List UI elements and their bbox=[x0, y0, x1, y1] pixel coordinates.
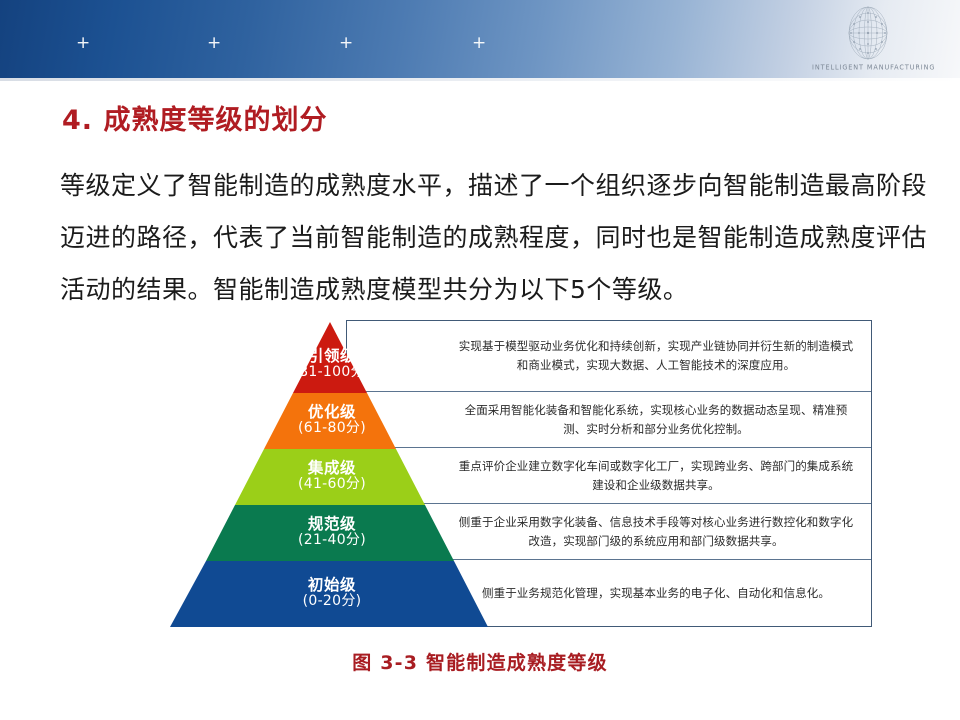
header-banner: + + + + bbox=[0, 0, 960, 78]
description-text: 侧重于企业采用数字化装备、信息技术手段等对核心业务进行数控化和数字化改造，实现部… bbox=[456, 513, 856, 551]
logo-caption: INTELLIGENT MANUFACTURING bbox=[812, 62, 924, 71]
description-text: 全面采用智能化装备和智能化系统，实现核心业务的数据动态呈现、精准预测、实时分析和… bbox=[456, 401, 856, 439]
pyramid-slice-shape bbox=[170, 561, 494, 627]
plus-decoration-icon: + bbox=[76, 35, 90, 52]
pyramid-level-4: 优化级 (61-80分) bbox=[170, 393, 494, 449]
sphere-mesh-icon bbox=[840, 4, 896, 62]
pyramid-level-2: 规范级 (21-40分) bbox=[170, 505, 494, 561]
page-title: 4. 成熟度等级的划分 bbox=[62, 98, 327, 137]
pyramid-level-5: 引领级 (81-100分) bbox=[170, 322, 494, 393]
body-paragraph: 等级定义了智能制造的成熟度水平，描述了一个组织逐步向智能制造最高阶段迈进的路径，… bbox=[60, 160, 940, 316]
description-text: 侧重于业务规范化管理，实现基本业务的电子化、自动化和信息化。 bbox=[456, 584, 856, 603]
header-underline bbox=[0, 78, 960, 81]
plus-decoration-icon: + bbox=[472, 35, 486, 52]
pyramid-slice-shape bbox=[170, 505, 494, 561]
description-text: 实现基于模型驱动业务优化和持续创新，实现产业链协同并衍生新的制造模式和商业模式，… bbox=[456, 337, 856, 375]
pyramid-level-3: 集成级 (41-60分) bbox=[170, 449, 494, 505]
pyramid-slice-shape bbox=[170, 393, 494, 449]
figure-caption: 图 3-3 智能制造成熟度等级 bbox=[0, 648, 960, 675]
description-text: 重点评价企业建立数字化车间或数字化工厂，实现跨业务、跨部门的集成系统建设和企业级… bbox=[456, 457, 856, 495]
plus-decoration-icon: + bbox=[207, 35, 221, 52]
plus-decoration-icon: + bbox=[339, 35, 353, 52]
pyramid-level-1: 初始级 (0-20分) bbox=[170, 561, 494, 627]
brand-logo: INTELLIGENT MANUFACTURING bbox=[812, 4, 924, 71]
pyramid-slice-shape bbox=[170, 322, 494, 393]
maturity-pyramid: 引领级 (81-100分) 优化级 (61-80分) 集成级 (41-60分) … bbox=[170, 322, 494, 627]
pyramid-slice-shape bbox=[170, 449, 494, 505]
